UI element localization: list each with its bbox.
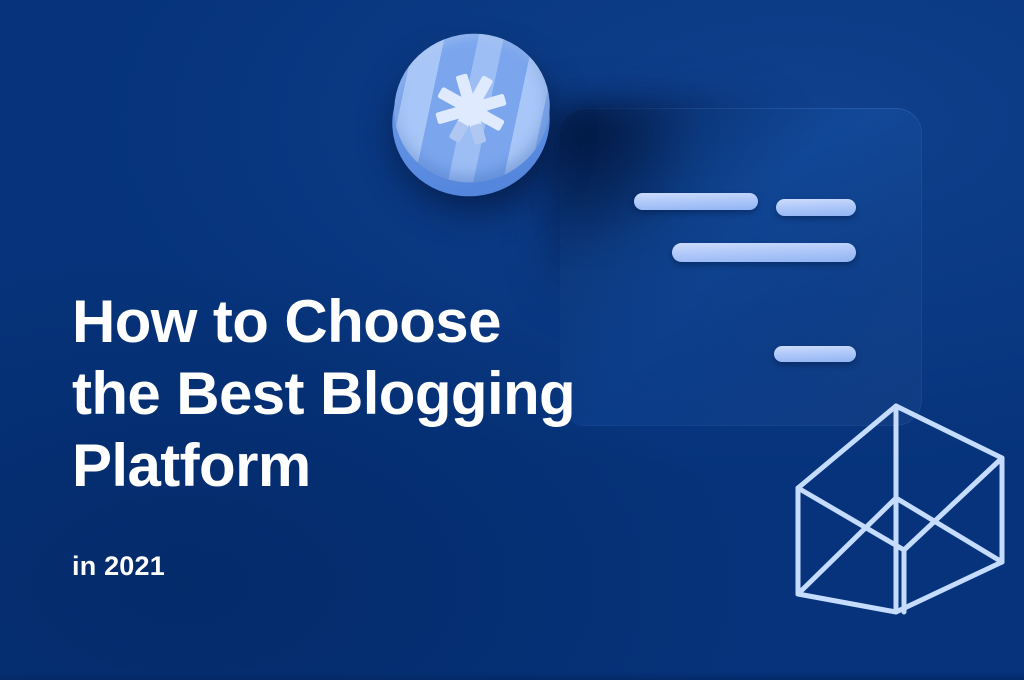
copy-block: How to Choose the Best Blogging Platform…: [72, 286, 692, 582]
card-text-bar-1: [634, 193, 758, 210]
asterisk-coin: [386, 28, 556, 200]
subtitle-year: in 2021: [72, 502, 692, 582]
coin-edge: [374, 27, 567, 215]
hero-banner: How to Choose the Best Blogging Platform…: [0, 0, 1024, 680]
asterisk-icon: [425, 63, 517, 155]
card-text-bar-4: [774, 346, 856, 362]
card-text-bar-2: [776, 199, 856, 216]
page-title: How to Choose the Best Blogging Platform: [72, 286, 692, 502]
card-text-bar-3: [672, 243, 856, 262]
coin-drop-shadow: [396, 58, 556, 208]
bottom-edge-strip: [0, 672, 1024, 680]
coin-face: [377, 15, 568, 200]
wireframe-cube: [778, 398, 1008, 620]
